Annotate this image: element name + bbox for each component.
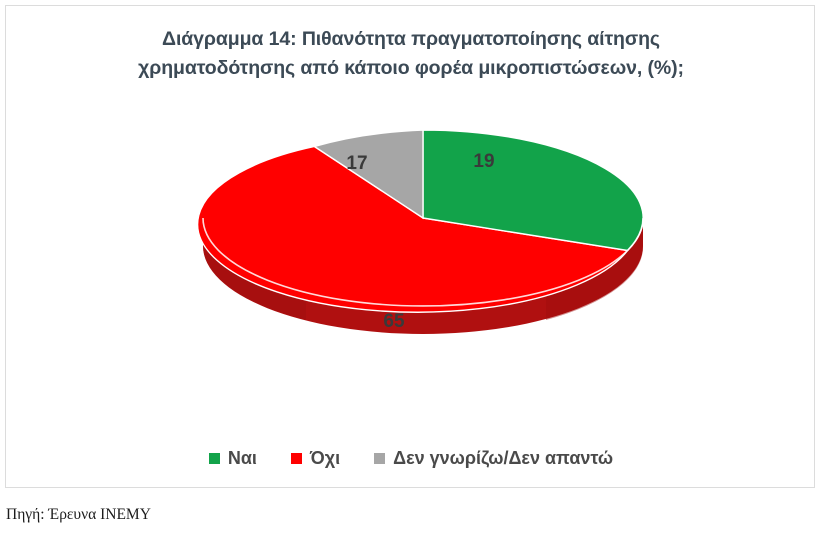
source-note: Πηγή: Έρευνα ΙΝΕΜΥ (6, 506, 151, 524)
legend-label-dont-know: Δεν γνωρίζω/Δεν απαντώ (393, 448, 613, 469)
chart-title-line-1: Διάγραμμα 14: Πιθανότητα πραγματοποίησης… (6, 25, 816, 54)
legend-label-nai: Ναι (228, 448, 257, 469)
legend-swatch-gray-icon (374, 453, 385, 464)
pie-chart-3d (6, 106, 816, 426)
legend-item-ochi[interactable]: Όχι (291, 448, 340, 469)
legend-label-ochi: Όχι (310, 448, 340, 469)
chart-title-line-2: χρηματοδότησης από κάποιο φορέα μικροπισ… (6, 54, 816, 83)
legend-item-dont-know[interactable]: Δεν γνωρίζω/Δεν απαντώ (374, 448, 613, 469)
pie-plot-area: 19 17 65 (6, 106, 816, 426)
legend-swatch-red-icon (291, 453, 302, 464)
legend-swatch-green-icon (209, 453, 220, 464)
chart-frame: Διάγραμμα 14: Πιθανότητα πραγματοποίησης… (5, 5, 815, 488)
chart-legend: Ναι Όχι Δεν γνωρίζω/Δεν απαντώ (6, 448, 816, 469)
chart-title: Διάγραμμα 14: Πιθανότητα πραγματοποίησης… (6, 25, 816, 83)
legend-item-nai[interactable]: Ναι (209, 448, 257, 469)
